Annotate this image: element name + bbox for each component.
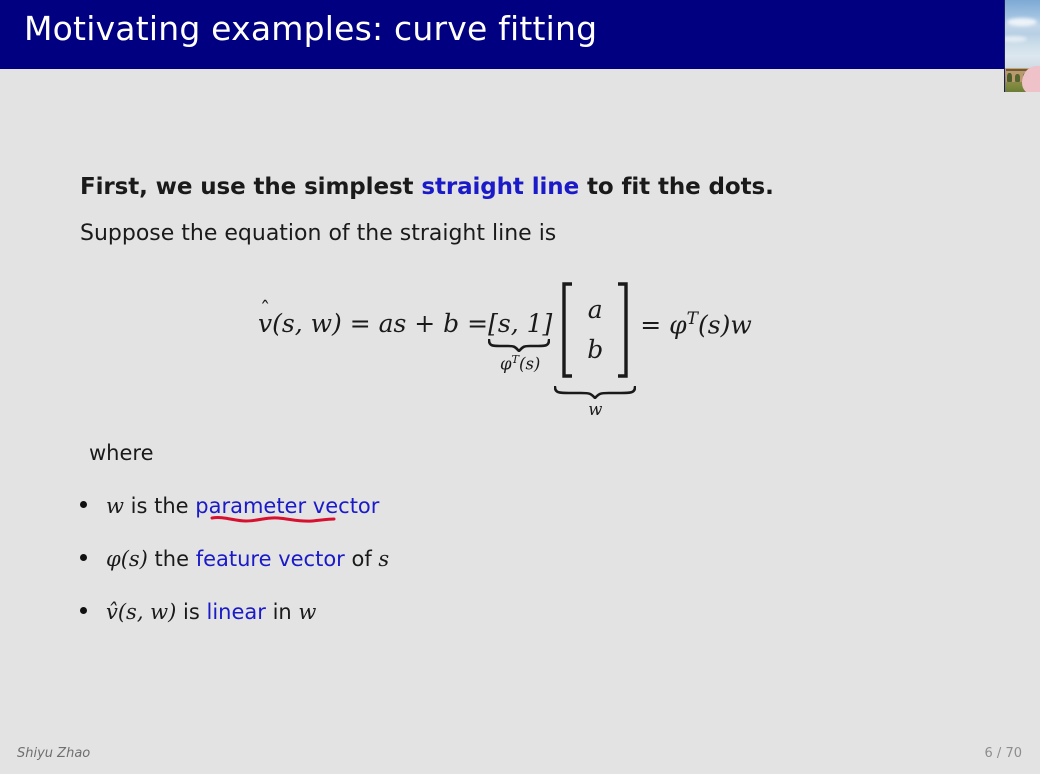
bullet-dot-icon — [80, 501, 87, 508]
where-label: where — [89, 441, 154, 465]
underbrace-label-phi: φT(s) — [488, 353, 552, 374]
bullet-dot-icon — [80, 554, 87, 561]
term-as-plus-b: as + b — [379, 309, 460, 338]
matrix-cell-a: a — [587, 290, 603, 331]
matrix-cell-b: b — [587, 330, 603, 371]
page-title: Motivating examples: curve fitting — [24, 9, 597, 48]
intro-text-before: First, we use the simplest — [80, 174, 421, 200]
bullet-2-text-after: of — [345, 547, 379, 571]
rhs-phi-transpose-sup: T — [687, 309, 698, 329]
bullet-dot-icon — [80, 607, 87, 614]
slide-root: Motivating examples: curve fitting First… — [0, 0, 1040, 774]
bullet-2-symbol: φ(s) — [106, 547, 148, 571]
matrix-cells: a b — [573, 288, 617, 373]
intro-bold-line: First, we use the simplest straight line… — [80, 174, 774, 200]
intro-highlight-straight-line: straight line — [421, 174, 579, 200]
equals-sign-2: = — [459, 309, 488, 338]
suppose-line: Suppose the equation of the straight lin… — [80, 221, 556, 246]
equals-sign-1: = — [342, 309, 379, 338]
row-vector-s-1: [s, 1] — [488, 309, 552, 338]
equals-sign-3: = — [640, 310, 669, 339]
slide-title-bar: Motivating examples: curve fitting — [0, 0, 1040, 69]
bullet-3-text-after: in — [266, 600, 299, 624]
underbrace-label-w: w — [554, 400, 636, 419]
rhs-w-symbol: w — [730, 310, 751, 339]
bullet-3-highlight-linear: linear — [207, 600, 266, 624]
bullet-1-highlight-parameter: parameter — [195, 494, 306, 518]
photo-tree-icon — [1007, 73, 1012, 82]
phi-transpose-sup: T — [512, 353, 519, 366]
photo-sky — [1005, 0, 1040, 68]
matrix-right-bracket-icon — [617, 282, 628, 378]
equation-args: (s, w) — [272, 309, 342, 338]
bullet-3-text-before: is — [176, 600, 206, 624]
intro-text-after: to fit the dots. — [579, 174, 774, 200]
matrix-left-bracket-icon — [562, 282, 573, 378]
equation-right-hand-side: = φT(s)w — [640, 282, 752, 339]
photo-tree-icon — [1015, 74, 1020, 82]
v-hat-symbol: ˆv — [258, 309, 272, 338]
underbrace-glyph-icon — [554, 386, 636, 399]
bullet-2-highlight-feature-vector: feature vector — [196, 547, 345, 571]
list-item: w is the parameter vector — [80, 494, 379, 518]
hat-accent-icon: ˆ — [260, 299, 270, 320]
bullet-3-symbol-after: w — [298, 600, 316, 624]
bullet-2-text-before: the — [148, 547, 196, 571]
display-equation: ˆv(s, w) = as + b = [s, 1] φT(s) — [258, 282, 752, 419]
corner-photo-image — [1004, 0, 1040, 92]
list-item: φ(s) the feature vector of s — [80, 547, 389, 571]
underbrace-phi-transpose: [s, 1] φT(s) — [488, 282, 552, 374]
column-vector-matrix: a b — [562, 282, 628, 378]
photo-cloud-icon — [1007, 18, 1037, 26]
underbrace-glyph-icon — [488, 339, 552, 352]
equation-left-hand-side: ˆv(s, w) = as + b = — [258, 282, 488, 338]
footer-page-number: 6 / 70 — [985, 746, 1022, 761]
bullet-1-highlight-vector: vector — [306, 494, 379, 518]
list-item: v̂(s, w) is linear in w — [80, 600, 316, 624]
rhs-phi-symbol: φ — [669, 310, 687, 339]
bullet-3-symbol: v̂(s, w) — [106, 600, 176, 624]
bullet-1-symbol: w — [106, 494, 124, 518]
bullet-1-text-before: is the — [124, 494, 195, 518]
rhs-phi-arg: (s) — [698, 310, 730, 339]
underbrace-w-group: a b w — [554, 282, 636, 419]
footer-author: Shiyu Zhao — [17, 746, 90, 761]
bullet-2-symbol-after: s — [378, 547, 389, 571]
